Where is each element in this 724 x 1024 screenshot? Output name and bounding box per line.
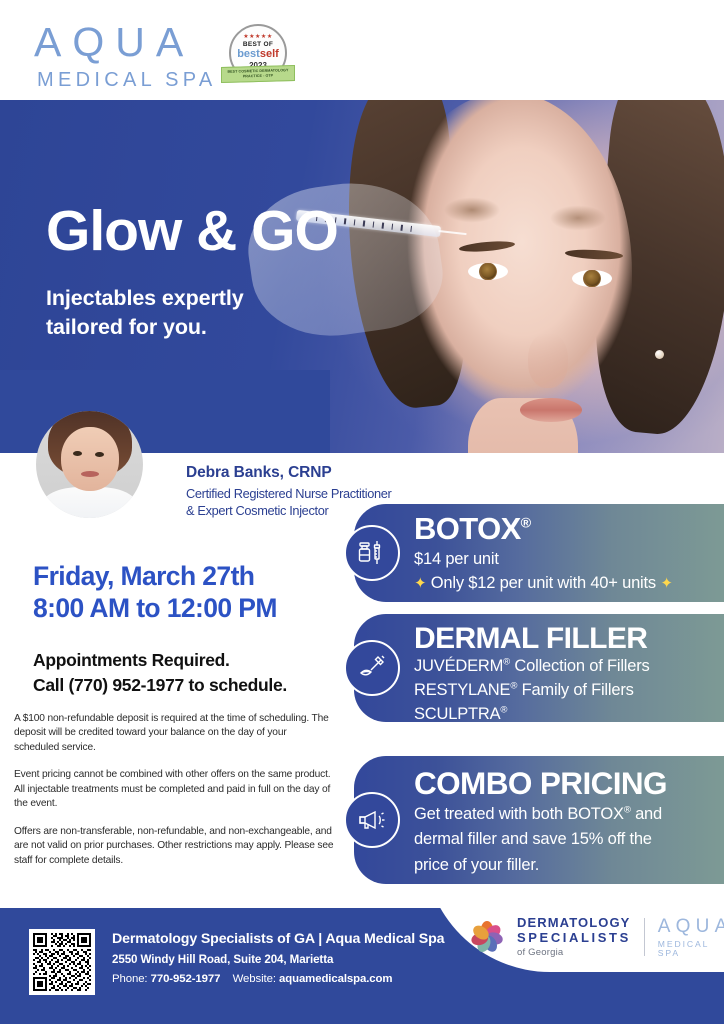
offer-combo-line3: price of your filler. bbox=[414, 855, 714, 877]
offer-filler-sculptra-line: SCULPTRA® bbox=[414, 704, 714, 726]
best-of-award-badge: ★★★★★ BEST OF bestself 2023 BEST COSMETI… bbox=[221, 24, 295, 94]
footer-practice-name: Dermatology Specialists of GA | Aqua Med… bbox=[112, 931, 444, 949]
badge-bestself-wordmark: bestself bbox=[237, 49, 279, 60]
offer-panel-botox-body: BOTOX® $14 per unit ✦ Only $12 per unit … bbox=[414, 504, 724, 595]
brand-juvederm-suffix: Collection of Fillers bbox=[510, 657, 650, 675]
brand-sculptra: SCULPTRA bbox=[414, 705, 500, 723]
ds-logo-line3: of Georgia bbox=[517, 947, 631, 958]
offer-combo-line1: Get treated with both BOTOX® and bbox=[414, 804, 714, 826]
vial-syringe-icon bbox=[344, 525, 400, 581]
offer-filler-juvederm-line: JUVÉDERM® Collection of Fillers bbox=[414, 656, 714, 678]
registered-mark: ® bbox=[521, 516, 531, 532]
header-bar: AQUA MEDICAL SPA ★★★★★ BEST OF bestself … bbox=[0, 0, 724, 100]
footer-aqua-line1: AQUA bbox=[658, 917, 724, 936]
brand-juvederm: JUVÉDERM bbox=[414, 657, 503, 675]
offer-panel-filler-body: DERMAL FILLER JUVÉDERM® Collection of Fi… bbox=[414, 614, 724, 725]
brand-restylane: RESTYLANE bbox=[414, 681, 510, 699]
footer-aqua-logo: AQUA MEDICAL SPA bbox=[658, 917, 724, 957]
footer-contact-info: Dermatology Specialists of GA | Aqua Med… bbox=[112, 931, 444, 986]
footer-phone-website: Phone: 770-952-1977 Website: aquamedical… bbox=[112, 972, 444, 986]
badge-best-word: best bbox=[237, 48, 260, 60]
megaphone-icon bbox=[344, 792, 400, 848]
footer-website-url[interactable]: aquamedicalspa.com bbox=[279, 973, 392, 985]
badge-self-word: self bbox=[260, 48, 279, 60]
footer-website-label: Website: bbox=[233, 973, 276, 985]
aqua-medical-spa-logo: AQUA MEDICAL SPA bbox=[34, 22, 217, 90]
footer-logo-divider bbox=[644, 918, 645, 956]
ds-logo-line2: SPECIALISTS bbox=[517, 931, 631, 946]
footer-aqua-line2: MEDICAL SPA bbox=[658, 940, 724, 957]
qr-code[interactable] bbox=[29, 929, 95, 995]
offer-panel-botox: BOTOX® $14 per unit ✦ Only $12 per unit … bbox=[354, 504, 724, 602]
offer-panel-dermal-filler: DERMAL FILLER JUVÉDERM® Collection of Fi… bbox=[354, 614, 724, 722]
offer-title-botox-text: BOTOX bbox=[414, 511, 521, 546]
lips-syringe-icon bbox=[344, 640, 400, 696]
dermatology-specialists-logo: DERMATOLOGY SPECIALISTS of Georgia bbox=[517, 916, 631, 958]
sparkle-icon: ✦ bbox=[660, 575, 672, 592]
offer-filler-restylane-line: RESTYLANE® Family of Fillers bbox=[414, 680, 714, 702]
offer-title-combo-pricing: COMBO PRICING bbox=[414, 756, 714, 800]
registered-mark: ® bbox=[624, 804, 631, 815]
dermatology-specialists-flower-icon bbox=[470, 920, 504, 954]
offer-title-dermal-filler: DERMAL FILLER bbox=[414, 614, 714, 654]
sparkle-icon: ✦ bbox=[414, 575, 426, 592]
footer-phone-label: Phone: bbox=[112, 973, 148, 985]
footer-address: 2550 Windy Hill Road, Suite 204, Mariett… bbox=[112, 953, 444, 967]
offer-botox-bulk-line: ✦ Only $12 per unit with 40+ units ✦ bbox=[414, 573, 714, 595]
registered-mark: ® bbox=[503, 657, 510, 668]
offer-combo-line2: dermal filler and save 15% off the bbox=[414, 829, 714, 851]
offer-combo-line1-a: Get treated with both BOTOX bbox=[414, 805, 624, 823]
offer-combo-line1-b: and bbox=[631, 805, 662, 823]
brand-restylane-suffix: Family of Fillers bbox=[517, 681, 634, 699]
offer-title-botox: BOTOX® bbox=[414, 504, 714, 544]
footer-logos: DERMATOLOGY SPECIALISTS of Georgia AQUA … bbox=[470, 916, 724, 958]
offer-botox-bulk-text: Only $12 per unit with 40+ units bbox=[431, 574, 656, 592]
registered-mark: ® bbox=[500, 704, 507, 715]
ds-logo-line1: DERMATOLOGY bbox=[517, 916, 631, 931]
offer-panel-combo-body: COMBO PRICING Get treated with both BOTO… bbox=[414, 756, 724, 877]
logo-medical-spa-text: MEDICAL SPA bbox=[37, 70, 217, 90]
logo-aqua-text: AQUA bbox=[34, 22, 217, 63]
badge-ribbon-line2: PRACTICE - OTP bbox=[243, 74, 273, 80]
offer-panels: BOTOX® $14 per unit ✦ Only $12 per unit … bbox=[0, 0, 724, 1024]
offer-panel-combo-pricing: COMBO PRICING Get treated with both BOTO… bbox=[354, 756, 724, 884]
footer-phone-number[interactable]: 770-952-1977 bbox=[151, 973, 221, 985]
offer-botox-price-line: $14 per unit bbox=[414, 549, 714, 571]
badge-ribbon: BEST COSMETIC DERMATOLOGY PRACTICE - OTP bbox=[221, 65, 295, 83]
